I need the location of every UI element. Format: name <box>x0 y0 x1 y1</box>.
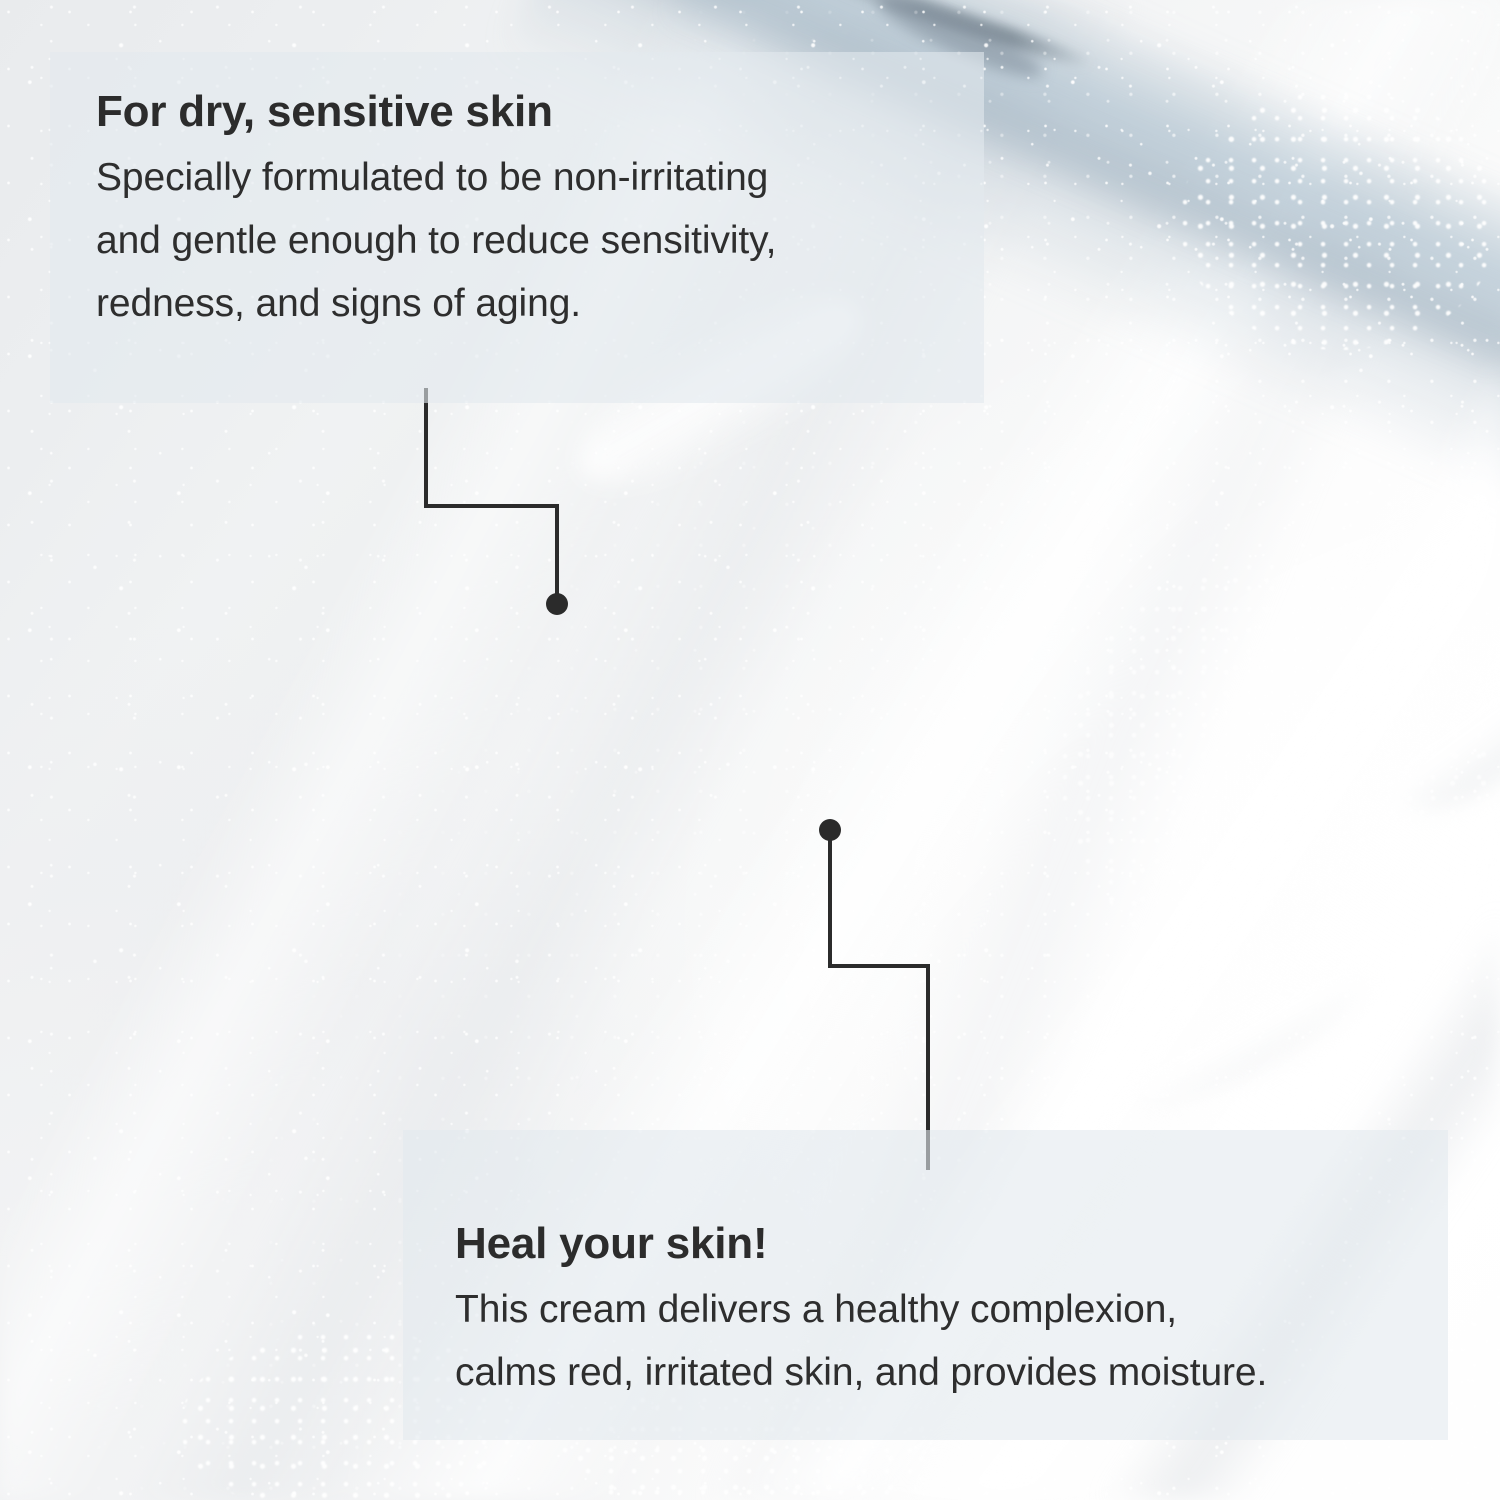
leader-dot-heal-your-skin <box>819 819 841 841</box>
callout-heading-dry-sensitive-skin: For dry, sensitive skin <box>96 86 954 138</box>
infographic-canvas: For dry, sensitive skin Specially formul… <box>0 0 1500 1500</box>
callout-heading-heal-your-skin: Heal your skin! <box>455 1218 1418 1270</box>
callout-body-line: calms red, irritated skin, and provides … <box>455 1341 1418 1404</box>
callout-dry-sensitive-skin: For dry, sensitive skin Specially formul… <box>50 52 984 403</box>
callout-body-line: and gentle enough to reduce sensitivity, <box>96 209 954 272</box>
cream-ridge-blob-lower-right <box>1119 943 1381 1127</box>
callout-body-line: Specially formulated to be non-irritatin… <box>96 146 954 209</box>
sparkle-cluster-mid-right <box>1060 560 1500 980</box>
callout-body-heal-your-skin: This cream delivers a healthy complexion… <box>455 1278 1418 1404</box>
callout-heal-your-skin: Heal your skin! This cream delivers a he… <box>403 1130 1448 1440</box>
cream-ridge-blob-right <box>1371 656 1500 835</box>
leader-line-heal-your-skin <box>830 839 928 1170</box>
callout-body-dry-sensitive-skin: Specially formulated to be non-irritatin… <box>96 146 954 336</box>
leader-line-dry-sensitive-skin <box>426 388 557 595</box>
callout-body-line: redness, and signs of aging. <box>96 272 954 335</box>
callout-body-line: This cream delivers a healthy complexion… <box>455 1278 1418 1341</box>
leader-dot-dry-sensitive-skin <box>546 593 568 615</box>
